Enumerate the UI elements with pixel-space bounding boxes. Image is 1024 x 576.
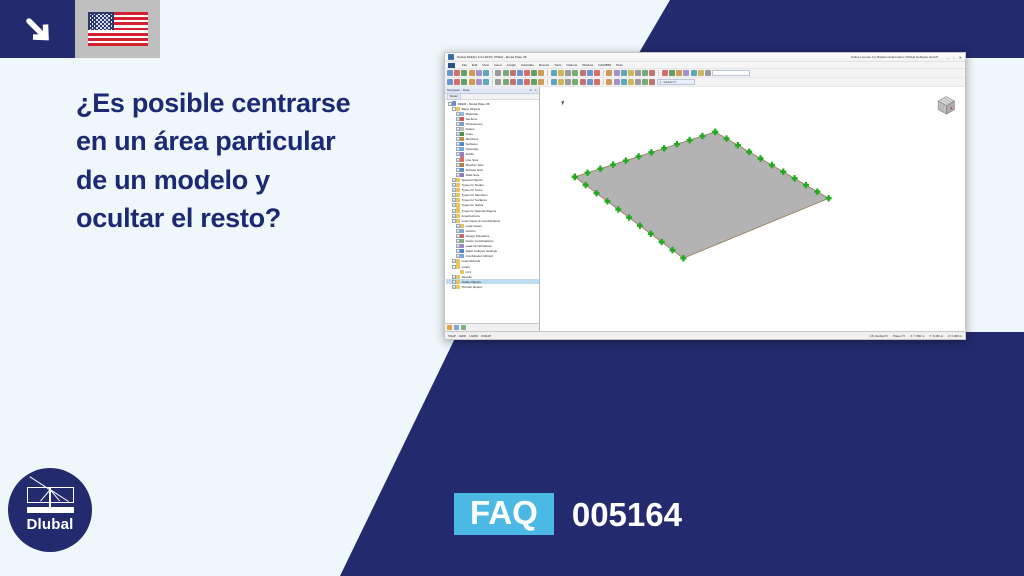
tree-item-label: Lines (466, 132, 473, 136)
toolbar-button-26-icon[interactable] (621, 70, 627, 76)
tree-item-icon (460, 147, 464, 151)
tab-model[interactable]: Model (447, 93, 461, 99)
toolbar-button-10-icon[interactable] (510, 70, 516, 76)
tree-item-label: Load Cases & Combinations (462, 219, 501, 223)
maximize-button[interactable]: ▫ (953, 55, 954, 60)
tree-item-icon (460, 234, 464, 238)
menu-item-tools[interactable]: Tools (554, 63, 561, 67)
tree-item-icon (460, 127, 464, 131)
tree-item-label: Members (466, 137, 479, 141)
toolbar-button-2-icon[interactable] (454, 70, 460, 76)
toolbar-button-36-icon[interactable] (691, 70, 697, 76)
tree-item-icon (460, 152, 464, 156)
minimize-button[interactable]: – (947, 55, 949, 60)
toolbar-button-12-icon[interactable] (524, 79, 530, 85)
tree-item-icon (460, 132, 464, 136)
toolbar-button-9-icon[interactable] (503, 70, 509, 76)
dlubal-logo: Dlubal (8, 468, 92, 552)
tree-item-label: Load Combinations (466, 244, 492, 248)
toolbar-button-14-icon[interactable] (538, 70, 544, 76)
coord-z: Z: 0.000 m (948, 334, 962, 338)
menu-item-options[interactable]: Options (567, 63, 578, 67)
tree-item-label: Solids (466, 152, 474, 156)
tree-item-icon (456, 183, 460, 187)
headline-line-4: ocultar el resto? (76, 199, 436, 237)
tree-item-label: Load Cases (466, 224, 482, 228)
toolbar-secondary[interactable]: 1 - Global XY (445, 78, 965, 87)
tree-item-label: Imperfections (462, 214, 480, 218)
toolbar-button-5-icon[interactable] (476, 79, 482, 85)
toolbar-separator (658, 70, 659, 76)
tree-item-icon (460, 224, 464, 228)
menu-bar[interactable]: FileEditViewInsertAssignCalculateResults… (445, 62, 965, 69)
close-button[interactable]: ✕ (959, 55, 962, 60)
faq-footer: FAQ 005164 (454, 493, 682, 535)
tree-item-icon (456, 280, 460, 284)
toolbar-button-18-icon[interactable] (565, 70, 571, 76)
toolbar-separator (603, 70, 604, 76)
menu-app-logo-icon (448, 63, 455, 68)
tree-item-label: Sections (466, 117, 478, 121)
tree-item-icon (456, 188, 460, 192)
toolbar-button-3-icon[interactable] (461, 70, 467, 76)
menu-item-help[interactable]: Help (616, 63, 622, 67)
tree-item-label: Types for Surfaces (462, 198, 487, 202)
toolbar-separator (547, 70, 548, 76)
tree-item-label: Types for Special Objects (462, 209, 497, 213)
language-badge (0, 0, 160, 58)
tree-item-label: Basic Objects (462, 107, 481, 111)
toolbar-button-33-icon[interactable] (669, 70, 675, 76)
dlubal-bridge-icon (27, 487, 74, 513)
toolbar-combo-coordinate-system[interactable]: 1 - Global XY (657, 79, 695, 85)
toolbar-button-1-icon[interactable] (447, 79, 453, 85)
tree-item-icon (460, 249, 464, 253)
nav-tool-2-icon[interactable] (454, 325, 459, 330)
license-info: Online License 1) | Bastian Ackermann | … (851, 55, 938, 59)
toolbar-button-24-icon[interactable] (606, 70, 612, 76)
nav-tool-3-icon[interactable] (461, 325, 466, 330)
toolbar-button-27-icon[interactable] (628, 79, 634, 85)
menu-item-file[interactable]: File (462, 63, 467, 67)
tree-item-label: LC1 (466, 270, 472, 274)
toolbar-button-13-icon[interactable] (531, 79, 537, 85)
nav-tool-1-icon[interactable] (447, 325, 452, 330)
app-icon (448, 54, 454, 60)
model-viewport[interactable] (540, 87, 965, 331)
headline-line-3: de un modelo y (76, 161, 436, 199)
toolbar-button-12-icon[interactable] (524, 70, 530, 76)
toolbar-button-20-icon[interactable] (580, 70, 586, 76)
headline-line-2: en un área particular (76, 122, 436, 160)
toolbar-button-19-icon[interactable] (572, 70, 578, 76)
toolbar-button-16-icon[interactable] (551, 79, 557, 85)
toolbar-button-11-icon[interactable] (517, 70, 523, 76)
window-title: Dlubal RFEM | 6.01.0030 | RFEM - Model P… (457, 55, 527, 59)
coordinate-system: CS: Global XY (870, 334, 889, 338)
pin-icon[interactable]: ⊟ (530, 88, 533, 92)
coord-y: Y: 6.481 m (929, 334, 943, 338)
toolbar-button-16-icon[interactable] (551, 70, 557, 76)
tree-item-icon (456, 285, 460, 289)
tree-item-icon (460, 163, 464, 167)
toolbar-button-22-icon[interactable] (594, 70, 600, 76)
toolbar-button-8-icon[interactable] (495, 79, 501, 85)
toolbar-button-3-icon[interactable] (461, 79, 467, 85)
menu-item-calculate[interactable]: Calculate (521, 63, 534, 67)
tree-item-label: Openings (466, 147, 479, 151)
tree-item-icon (456, 219, 460, 223)
toolbar-button-35-icon[interactable] (683, 70, 689, 76)
tree-item-icon (460, 137, 464, 141)
faq-number: 005164 (572, 498, 682, 531)
navy-shape-top-right (560, 0, 1024, 58)
tree-item-label: Action Combinations (466, 239, 494, 243)
toolbar-button-17-icon[interactable] (558, 70, 564, 76)
tree-item-icon (456, 275, 460, 279)
tree-item-icon (456, 107, 460, 111)
tree-item-label: Design Situations (466, 234, 490, 238)
tree-item-label: Guide Objects (462, 280, 481, 284)
tree-item-label: Nodes (466, 127, 475, 131)
navigator-tree[interactable]: -RFEM - Model Plate.rf6-Basic Objects+Ma… (445, 100, 539, 323)
toolbar-button-22-icon[interactable] (594, 79, 600, 85)
toolbar-button-5-icon[interactable] (476, 70, 482, 76)
toolbar-button-21-icon[interactable] (587, 70, 593, 76)
menu-item-window[interactable]: Window (582, 63, 593, 67)
coord-x: X: 7.350 m (910, 334, 924, 338)
tree-item-icon (456, 178, 460, 182)
navigator-panel: Navigator - Data ⊟ ✕ Model -RFEM - Model… (445, 87, 540, 331)
toolbar-button-14-icon[interactable] (538, 79, 544, 85)
toolbar-button-11-icon[interactable] (517, 79, 523, 85)
navigator-footer-toolbar[interactable] (445, 323, 539, 331)
tree-item-label: Member Sets (466, 163, 484, 167)
menu-item-insert[interactable]: Insert (494, 63, 502, 67)
tree-item-label: RFEM - Model Plate.rf6 (458, 102, 490, 106)
menu-item-results[interactable]: Results (539, 63, 549, 67)
toolbar-button-24-icon[interactable] (606, 79, 612, 85)
toolbar-button-13-icon[interactable] (531, 70, 537, 76)
status-toggle-osnap[interactable]: OSNAP (481, 334, 491, 338)
tree-item-label: Types for Lines (462, 188, 483, 192)
status-toggle-lgrid[interactable]: LGRID (469, 334, 478, 338)
close-icon[interactable]: ✕ (534, 88, 537, 92)
menu-item-edit[interactable]: Edit (472, 63, 477, 67)
tree-item-icon (456, 214, 460, 218)
toolbar-button-28-icon[interactable] (635, 70, 641, 76)
tree-item-icon (456, 264, 460, 268)
nodal-support-23 (826, 195, 832, 201)
menu-item-assign[interactable]: Assign (507, 63, 516, 67)
toolbar-separator (492, 79, 493, 85)
tree-item-icon (460, 168, 464, 172)
toolbar-separator (492, 70, 493, 76)
tree-item-icon (456, 198, 460, 202)
tree-item-label: Types for Solids (462, 203, 484, 207)
view-cube-icon[interactable] (933, 92, 959, 118)
toolbar-button-30-icon[interactable] (649, 70, 655, 76)
toolbar-separator (547, 79, 548, 85)
toolbar-button-18-icon[interactable] (565, 79, 571, 85)
headline-line-1: ¿Es posible centrarse (76, 84, 436, 122)
toolbar-button-6-icon[interactable] (483, 79, 489, 85)
tree-item-icon (460, 229, 464, 233)
tree-item-icon (460, 157, 464, 161)
status-toggle-grid[interactable]: GRID (459, 334, 466, 338)
tree-item-label: Solid Sets (466, 173, 480, 177)
status-toggle-snap[interactable]: SNAP (448, 334, 456, 338)
toolbar-button-25-icon[interactable] (614, 70, 620, 76)
page-title: ¿Es posible centrarse en un área particu… (76, 84, 436, 237)
navy-shape-bottom (340, 332, 1024, 576)
tree-item-icon (460, 244, 464, 248)
nodal-support-24 (572, 174, 578, 180)
toolbar-separator (603, 79, 604, 85)
tree-item-label: Thicknesses (466, 122, 483, 126)
plane-indicator: Plane XY (893, 334, 905, 338)
tree-item-label: Static Analysis Settings (466, 249, 498, 253)
tree-item-label: Surface Sets (466, 168, 483, 172)
toolbar-button-20-icon[interactable] (580, 79, 586, 85)
tree-item-label: Materials (466, 112, 478, 116)
tree-item-icon (460, 112, 464, 116)
menu-item-cad-bim[interactable]: CAD/BIM (598, 63, 611, 67)
tree-item-icon (460, 239, 464, 243)
tree-item-icon (456, 203, 460, 207)
window-titlebar: Dlubal RFEM | 6.01.0030 | RFEM - Model P… (445, 53, 965, 62)
toolbar-button-2-icon[interactable] (454, 79, 460, 85)
tree-item-icon (456, 193, 460, 197)
toolbar-button-38-icon[interactable] (705, 70, 711, 76)
toolbar-button-27-icon[interactable] (628, 70, 634, 76)
tree-item-icon (460, 270, 464, 274)
toolbar-button-30-icon[interactable] (649, 79, 655, 85)
toolbar-combo-view[interactable] (712, 70, 750, 76)
navigator-title: Navigator - Data (447, 88, 470, 92)
menu-item-view[interactable]: View (482, 63, 489, 67)
tree-item-label: Types for Nodes (462, 183, 484, 187)
usa-flag-icon (75, 0, 160, 58)
tree-item-label: Results (462, 275, 472, 279)
tree-item-label: Printout Report (462, 285, 483, 289)
toolbar-button-28-icon[interactable] (635, 79, 641, 85)
tree-item-icon (460, 117, 464, 121)
tree-item-label: Combination Wizard (466, 254, 493, 258)
rfem-application-window: Dlubal RFEM | 6.01.0030 | RFEM - Model P… (444, 52, 966, 340)
tree-item-label: Actions (466, 229, 476, 233)
toolbar-button-37-icon[interactable] (698, 70, 704, 76)
surface-plate (575, 132, 829, 258)
tree-item-icon (456, 208, 460, 212)
status-badge: FAQ (454, 493, 554, 535)
toolbar-button-9-icon[interactable] (503, 79, 509, 85)
tree-item-icon (456, 259, 460, 263)
toolbar-button-26-icon[interactable] (621, 79, 627, 85)
arrow-down-right-icon (0, 0, 75, 58)
tree-item-label: Special Objects (462, 178, 483, 182)
toolbar-button-29-icon[interactable] (642, 70, 648, 76)
toolbar-button-4-icon[interactable] (469, 70, 475, 76)
tree-item-icon (460, 173, 464, 177)
logo-text: Dlubal (26, 516, 73, 533)
toolbar-button-29-icon[interactable] (642, 79, 648, 85)
tree-item-label: Surfaces (466, 142, 478, 146)
tree-item-label: Types for Members (462, 193, 488, 197)
tree-item-label: Loads (462, 265, 470, 269)
toolbar-button-1-icon[interactable] (447, 70, 453, 76)
toolbar-primary[interactable] (445, 69, 965, 78)
toolbar-button-4-icon[interactable] (469, 79, 475, 85)
plate-model-graphic (540, 87, 965, 331)
toolbar-button-25-icon[interactable] (614, 79, 620, 85)
tree-item-icon (460, 142, 464, 146)
tree-item-icon (460, 254, 464, 258)
toolbar-button-8-icon[interactable] (495, 70, 501, 76)
status-bar: SNAPGRIDLGRIDOSNAP CS: Global XY Plane X… (445, 331, 965, 339)
toolbar-button-17-icon[interactable] (558, 79, 564, 85)
toolbar-button-6-icon[interactable] (483, 70, 489, 76)
toolbar-button-32-icon[interactable] (662, 70, 668, 76)
tree-item-icon (460, 122, 464, 126)
tree-item-icon (452, 101, 456, 105)
toolbar-button-21-icon[interactable] (587, 79, 593, 85)
toolbar-button-34-icon[interactable] (676, 70, 682, 76)
toolbar-button-19-icon[interactable] (572, 79, 578, 85)
tree-item-label: Load Wizards (462, 259, 481, 263)
toolbar-button-10-icon[interactable] (510, 79, 516, 85)
tree-item-printout-report[interactable]: +Printout Report (446, 284, 539, 289)
tree-item-label: Line Sets (466, 158, 479, 162)
